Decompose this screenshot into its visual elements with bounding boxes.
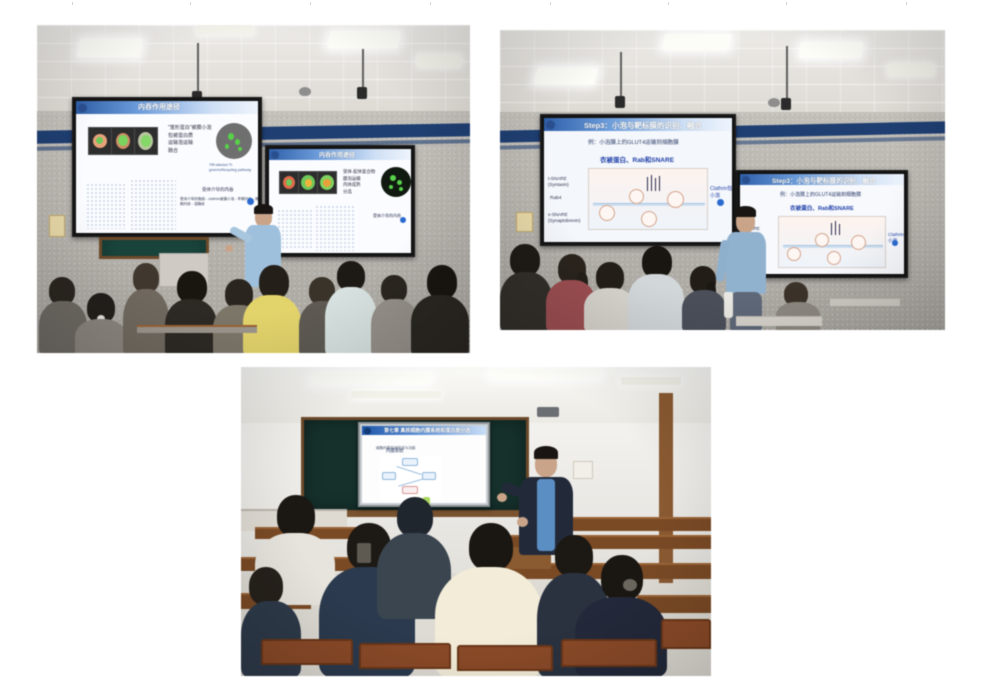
- torso: [325, 287, 377, 353]
- slide-surface: Step3：小泡与靶标膜的识别、融合 例：小泡膜上的GLUT4运输到细胞膜 衣被…: [544, 118, 732, 242]
- wall-poster: [49, 215, 65, 237]
- audience-member: [628, 246, 684, 330]
- page-margin-marks: [0, 0, 986, 10]
- receptor-spike: [651, 175, 652, 191]
- receptor-spike: [839, 224, 840, 235]
- photo-bottom-center: 第七章 真核细胞内膜系统和蛋白质分选 内膜系统 细胞内膜系统组成与功能: [241, 367, 711, 676]
- diagram-node: [422, 472, 436, 480]
- projector-mount-rod: [786, 46, 788, 100]
- projector-head: [357, 87, 367, 99]
- slide-title-bar: Step3：小泡与靶标膜的识别、融合: [544, 118, 732, 131]
- slide-title: 内吞作用途径: [319, 150, 355, 159]
- lecturer-hair: [735, 206, 756, 217]
- micrograph: [89, 128, 111, 154]
- receptor-spike: [835, 221, 836, 235]
- ceiling-light: [197, 25, 253, 35]
- photo-top-left: 内吞作用途径 "笼形: [37, 25, 470, 353]
- protein-structure-mesh: [315, 205, 355, 251]
- water-bottle: [724, 292, 733, 318]
- vesicle: [787, 247, 801, 261]
- lecturer-hand: [225, 245, 233, 252]
- chair-back: [359, 643, 451, 669]
- chair-back: [561, 639, 657, 667]
- ceiling-light: [328, 31, 400, 48]
- receptor-spike: [647, 177, 648, 191]
- diagram-node: [402, 486, 418, 494]
- ceiling-light: [799, 42, 863, 58]
- head: [259, 265, 289, 299]
- slide-bullet: 分选: [343, 189, 375, 196]
- audience-member: [325, 261, 377, 353]
- security-camera-icon: [768, 98, 780, 107]
- lecturer-torso: [726, 232, 766, 294]
- lecturer-hair: [254, 204, 273, 214]
- ceiling-light: [350, 391, 442, 398]
- slide-title: 第七章 真核细胞内膜系统和蛋白质分选: [384, 427, 470, 434]
- security-camera-icon: [299, 87, 311, 96]
- torso: [411, 295, 469, 353]
- head: [277, 495, 315, 537]
- audience-member: [123, 263, 169, 353]
- ceiling-light: [534, 68, 598, 84]
- slide-surface: 第七章 真核细胞内膜系统和蛋白质分选 内膜系统 细胞内膜系统组成与功能: [362, 426, 486, 503]
- slide-logo-badge: [78, 103, 87, 112]
- vesicle-transport-diagram: [588, 168, 708, 230]
- slide-title: Step3：小泡与靶标膜的识别、融合: [584, 120, 702, 131]
- ceiling-light: [621, 377, 681, 385]
- photo-top-right: Step3：小泡与靶标膜的识别、融合 例：小泡膜上的GLUT4运输到细胞膜 衣被…: [500, 30, 945, 330]
- head: [397, 497, 433, 537]
- micrograph-strip: [88, 127, 158, 155]
- chair-back: [661, 619, 711, 649]
- slide-side-label: Rab4: [550, 196, 561, 201]
- micrograph: [318, 172, 336, 193]
- audience-member: [243, 265, 301, 353]
- slide-right-label: Clathrin包被小泡: [710, 186, 732, 199]
- head: [427, 265, 457, 299]
- head: [249, 567, 283, 605]
- slide-bullet-list: "笼形蛋白"被膜小泡 包被蛋白质 运输泡运输 融合: [168, 125, 212, 155]
- slide-side-label: t-SNARE (Syntaxin): [548, 176, 584, 188]
- slide-figure-caption: TfR-labeled Tf-green\nRecycling pathway: [209, 163, 258, 173]
- slide-logo-badge: [364, 427, 371, 434]
- vesicle: [629, 189, 644, 204]
- diagram-connector: [396, 466, 421, 475]
- slide-title-bar: Step3：小泡与靶标膜的识别、融合: [740, 174, 904, 185]
- torso: [123, 289, 169, 353]
- slide-bullet: "笼形蛋白"被膜小泡: [168, 125, 212, 133]
- slide-corner-logo: [400, 217, 406, 223]
- slide-bullet: 融合: [168, 148, 212, 156]
- slide-title-bar: 第七章 真核细胞内膜系统和蛋白质分选: [362, 426, 486, 435]
- vesicle: [641, 211, 657, 227]
- wall-poster: [516, 212, 533, 232]
- wall-speaker: [537, 407, 559, 417]
- slide-bullet: 运输泡运输: [168, 140, 212, 148]
- torso: [628, 274, 684, 330]
- ceiling-light: [663, 34, 732, 50]
- projector-mount-rod: [620, 52, 622, 98]
- ceiling-light: [310, 373, 433, 383]
- audience-member: [500, 244, 552, 330]
- slide-title-bar: 内吞作用途径: [76, 101, 258, 114]
- torso: [500, 272, 552, 330]
- slide-logo-badge: [742, 176, 750, 184]
- micrograph: [135, 128, 157, 154]
- receptor-spike: [659, 176, 660, 191]
- projector-head: [615, 96, 625, 108]
- protein-structure-mesh: [130, 179, 176, 231]
- membrane-system-diagram: [380, 456, 442, 500]
- receptor-spike: [831, 223, 832, 235]
- torso: [682, 290, 726, 330]
- micrograph: [112, 128, 134, 154]
- slide-title: 内吞作用途径: [138, 102, 180, 112]
- slide-highlight: 衣被蛋白、Rab和SNARE: [790, 204, 854, 212]
- projector-head: [781, 98, 791, 110]
- slide-title: Step3：小泡与靶标膜的识别、融合: [772, 175, 876, 185]
- micrograph: [280, 172, 298, 193]
- ceiling-light: [77, 39, 143, 57]
- hair-tie: [623, 579, 637, 591]
- micrograph: [299, 172, 317, 193]
- ceiling-light: [417, 55, 461, 67]
- slide-corner-logo: [892, 240, 898, 246]
- ceiling: [500, 30, 945, 112]
- micrograph-strip: [279, 171, 337, 194]
- ceiling-light: [888, 64, 934, 76]
- slide-side-label: v-SNARE (Synaptobrevin): [548, 212, 586, 224]
- slide-footer-label: 受体介导的内吞: [202, 187, 234, 193]
- vesicle: [599, 205, 615, 221]
- slide-title-bar: 内吞作用途径: [269, 149, 411, 160]
- ceiling-light: [490, 369, 602, 378]
- audience-member: [75, 293, 127, 353]
- chair-back: [261, 639, 353, 665]
- desk-row: [830, 298, 900, 306]
- diagram-node: [402, 458, 418, 466]
- vesicle: [815, 233, 829, 247]
- slide-logo-badge: [271, 151, 279, 159]
- slide-bullet: 包被蛋白质: [168, 133, 212, 141]
- slide-bullet-list: 受体-配体复合物 膜泡运输 内体成熟 分选: [343, 169, 375, 195]
- slide-bullet: 内体成熟: [343, 182, 375, 189]
- protein-structure-mesh: [86, 183, 126, 229]
- receptor-spike: [655, 178, 656, 191]
- vesicle: [851, 235, 866, 250]
- slide-diagram-label: 细胞内膜系统组成与功能: [376, 446, 416, 451]
- slide-bullet: 受体-配体复合物: [343, 169, 375, 176]
- torso: [243, 295, 301, 353]
- vesicle: [827, 251, 841, 265]
- slide-highlight: 衣被蛋白、Rab和SNARE: [600, 154, 674, 164]
- projector-mount-rod: [197, 43, 199, 95]
- audience-member: [682, 266, 726, 330]
- torso: [75, 319, 127, 353]
- ceiling: [241, 367, 711, 423]
- vesicle: [667, 191, 684, 208]
- head: [601, 555, 643, 601]
- slide-surface: 内吞作用途径 受体-: [269, 149, 411, 253]
- slide-subtitle: 例：小泡膜上的GLUT4运输到细胞膜: [588, 138, 679, 146]
- lecturer-hair: [534, 446, 558, 459]
- desk-row: [137, 325, 257, 333]
- desk-row: [736, 316, 822, 326]
- vesicle-transport-diagram: [778, 216, 886, 268]
- hair-clip: [357, 543, 371, 563]
- document-page: 内吞作用途径 "笼形: [0, 0, 986, 692]
- audience-member: [165, 271, 217, 353]
- cell-micrograph-circle: [381, 167, 411, 197]
- lecturer-hand: [497, 493, 507, 502]
- audience-member: [411, 265, 469, 353]
- slide-footer-label: 受体介导的内吞: [373, 213, 401, 219]
- chair-back: [457, 645, 553, 671]
- cell-micrograph-circle: [216, 123, 252, 159]
- diagram-node: [382, 472, 396, 480]
- main-projection-screen: Step3：小泡与靶标膜的识别、融合 例：小泡膜上的GLUT4运输到细胞膜 衣被…: [540, 114, 736, 246]
- slide-subtitle: 例：小泡膜上的GLUT4运输到细胞膜: [780, 191, 861, 198]
- slide-logo-badge: [546, 120, 555, 129]
- front-whiteboard-display: 第七章 真核细胞内膜系统和蛋白质分选 内膜系统 细胞内膜系统组成与功能: [358, 422, 490, 507]
